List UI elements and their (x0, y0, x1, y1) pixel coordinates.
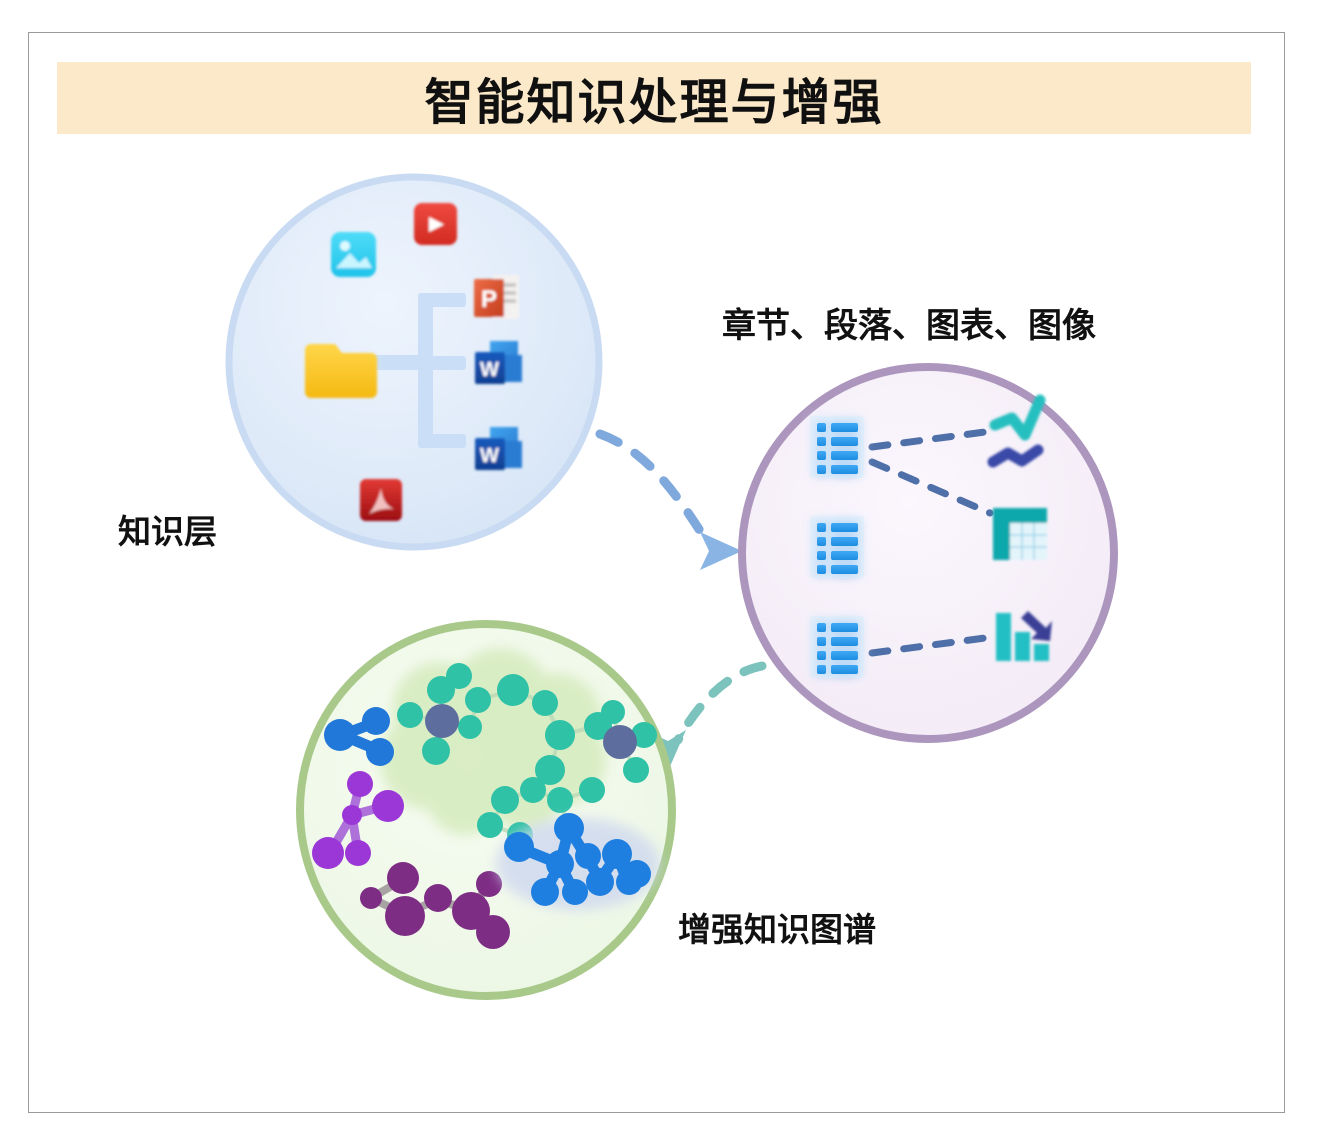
segments-circle[interactable] (742, 367, 1114, 739)
list-icon-3[interactable] (810, 616, 864, 678)
diagram-stage: P W W (0, 0, 1324, 1144)
list-icon-1[interactable] (810, 416, 864, 478)
image-file-icon[interactable] (331, 232, 376, 277)
video-file-icon[interactable] (414, 203, 457, 245)
label-segments: 章节、段落、图表、图像 (722, 298, 1096, 347)
table-icon[interactable] (993, 508, 1047, 560)
svg-text:W: W (480, 445, 499, 467)
powerpoint-file-icon[interactable]: P (474, 275, 519, 319)
svg-text:P: P (481, 286, 497, 313)
list-icon-2[interactable] (810, 516, 864, 578)
segments-circle-shape (742, 367, 1114, 739)
knowledge-layer-circle[interactable]: P W W (229, 177, 599, 547)
label-knowledge-graph: 增强知识图谱 (678, 903, 876, 951)
diagram-canvas: P W W (0, 0, 1324, 1144)
arrow-knowledge-to-segments (600, 434, 742, 570)
svg-text:W: W (480, 359, 499, 381)
knowledge-graph-circle[interactable] (300, 624, 672, 996)
pdf-file-icon[interactable] (360, 479, 402, 521)
label-knowledge-layer: 知识层 (118, 505, 217, 553)
